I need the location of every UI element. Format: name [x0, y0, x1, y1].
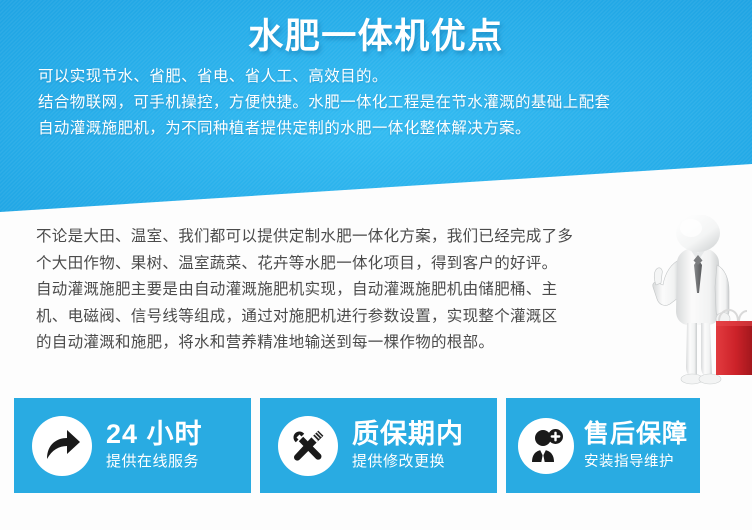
service-title: 质保期内	[352, 419, 464, 450]
wrench-screwdriver-icon	[278, 416, 338, 476]
body-line: 的自动灌溉和施肥，将水和营养精准地输送到每一棵作物的根部。	[36, 330, 654, 357]
header-line: 自动灌溉施肥机，为不同种植者提供定制的水肥一体化整体解决方案。	[38, 116, 722, 142]
service-subtitle: 提供在线服务	[106, 452, 203, 472]
body-line: 不论是大田、温室、我们都可以提供定制水肥一体化方案，我们已经完成了多	[36, 224, 654, 251]
header-line: 可以实现节水、省肥、省电、省人工、高效目的。	[38, 64, 722, 90]
service-title: 售后保障	[584, 419, 688, 450]
header-line: 结合物联网，可手机操控，方便快捷。水肥一体化工程是在节水灌溉的基础上配套	[38, 90, 722, 116]
body-line: 自动灌溉施肥主要是由自动灌溉施肥机实现，自动灌溉施肥机由储肥桶、主	[36, 277, 654, 304]
service-text: 售后保障 安装指导维护	[584, 419, 688, 472]
service-box-aftersales[interactable]: 售后保障 安装指导维护	[506, 398, 700, 493]
header-banner: 水肥一体机优点 可以实现节水、省肥、省电、省人工、高效目的。 结合物联网，可手机…	[0, 0, 752, 215]
service-text: 质保期内 提供修改更换	[352, 419, 464, 472]
curved-arrow-icon	[32, 416, 92, 476]
service-subtitle: 安装指导维护	[584, 452, 688, 472]
promo-banner-page: 水肥一体机优点 可以实现节水、省肥、省电、省人工、高效目的。 结合物联网，可手机…	[0, 0, 752, 530]
body-paragraph: 不论是大田、温室、我们都可以提供定制水肥一体化方案，我们已经完成了多 个大田作物…	[36, 224, 654, 357]
page-title: 水肥一体机优点	[0, 8, 752, 59]
body-line: 个大田作物、果树、温室蔬菜、花卉等水肥一体化项目，得到客户的好评。	[36, 251, 654, 278]
add-user-icon	[518, 418, 574, 474]
service-text: 24 小时 提供在线服务	[106, 419, 203, 472]
service-box-warranty[interactable]: 质保期内 提供修改更换	[260, 398, 497, 493]
body-line: 机、电磁阀、信号线等组成，通过对施肥机进行参数设置，实现整个灌溉区	[36, 304, 654, 331]
businessman-thumbs-up-icon	[645, 215, 752, 400]
service-subtitle: 提供修改更换	[352, 452, 464, 472]
service-title: 24 小时	[106, 419, 203, 450]
header-description: 可以实现节水、省肥、省电、省人工、高效目的。 结合物联网，可手机操控，方便快捷。…	[38, 64, 722, 142]
service-box-24h[interactable]: 24 小时 提供在线服务	[14, 398, 251, 493]
service-boxes: 24 小时 提供在线服务	[0, 398, 752, 493]
header-inner: 水肥一体机优点 可以实现节水、省肥、省电、省人工、高效目的。 结合物联网，可手机…	[0, 0, 752, 215]
